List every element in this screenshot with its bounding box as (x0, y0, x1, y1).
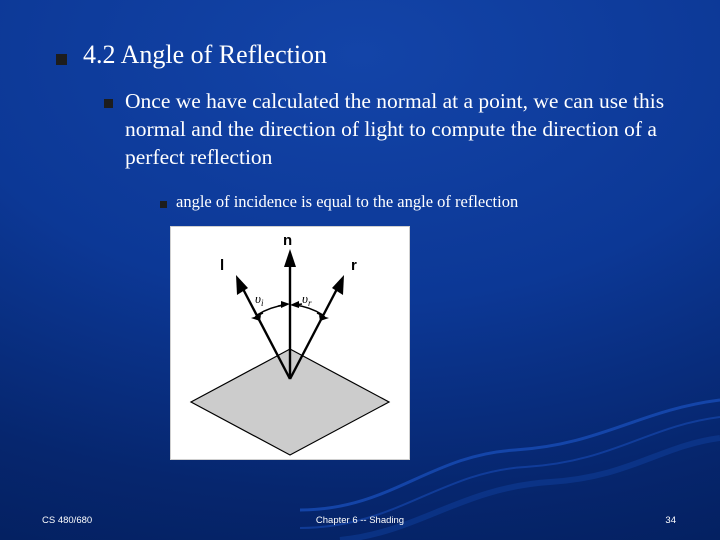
level3-row: angle of incidence is equal to the angle… (160, 192, 680, 213)
level2-row: Once we have calculated the normal at a … (104, 88, 684, 172)
level3-bullet-block: angle of incidence is equal to the angle… (160, 192, 680, 213)
footer-chapter: Chapter 6 -- Shading (0, 515, 720, 526)
label-theta-reflection-sub: r (308, 298, 312, 308)
label-incident: l (220, 257, 224, 274)
svg-text:υi: υi (255, 291, 264, 308)
square-bullet-icon (56, 54, 67, 65)
level1-row: 4.2 Angle of Reflection (56, 40, 696, 71)
label-theta-incidence-sub: i (261, 298, 264, 308)
square-bullet-icon (160, 201, 167, 208)
label-normal: n (283, 232, 292, 249)
square-bullet-icon (104, 99, 113, 108)
normal-arrowhead (284, 249, 296, 267)
incident-arrowhead (236, 275, 248, 295)
svg-text:υr: υr (302, 291, 312, 308)
angle-reflection-arrowhead-left (290, 301, 299, 308)
angle-incidence-arrowhead-right (281, 301, 290, 308)
level2-text: Once we have calculated the normal at a … (125, 88, 684, 172)
footer-page-number: 34 (665, 515, 676, 526)
level1-bullet-block: 4.2 Angle of Reflection (56, 40, 696, 71)
level3-text: angle of incidence is equal to the angle… (176, 192, 518, 213)
reflection-diagram: n l r υi υr (170, 226, 410, 460)
slide-canvas: 4.2 Angle of Reflection Once we have cal… (0, 0, 720, 540)
label-reflected: r (351, 257, 357, 274)
reflected-arrowhead (332, 275, 344, 295)
level2-bullet-block: Once we have calculated the normal at a … (104, 88, 684, 172)
page-title: 4.2 Angle of Reflection (83, 40, 327, 71)
